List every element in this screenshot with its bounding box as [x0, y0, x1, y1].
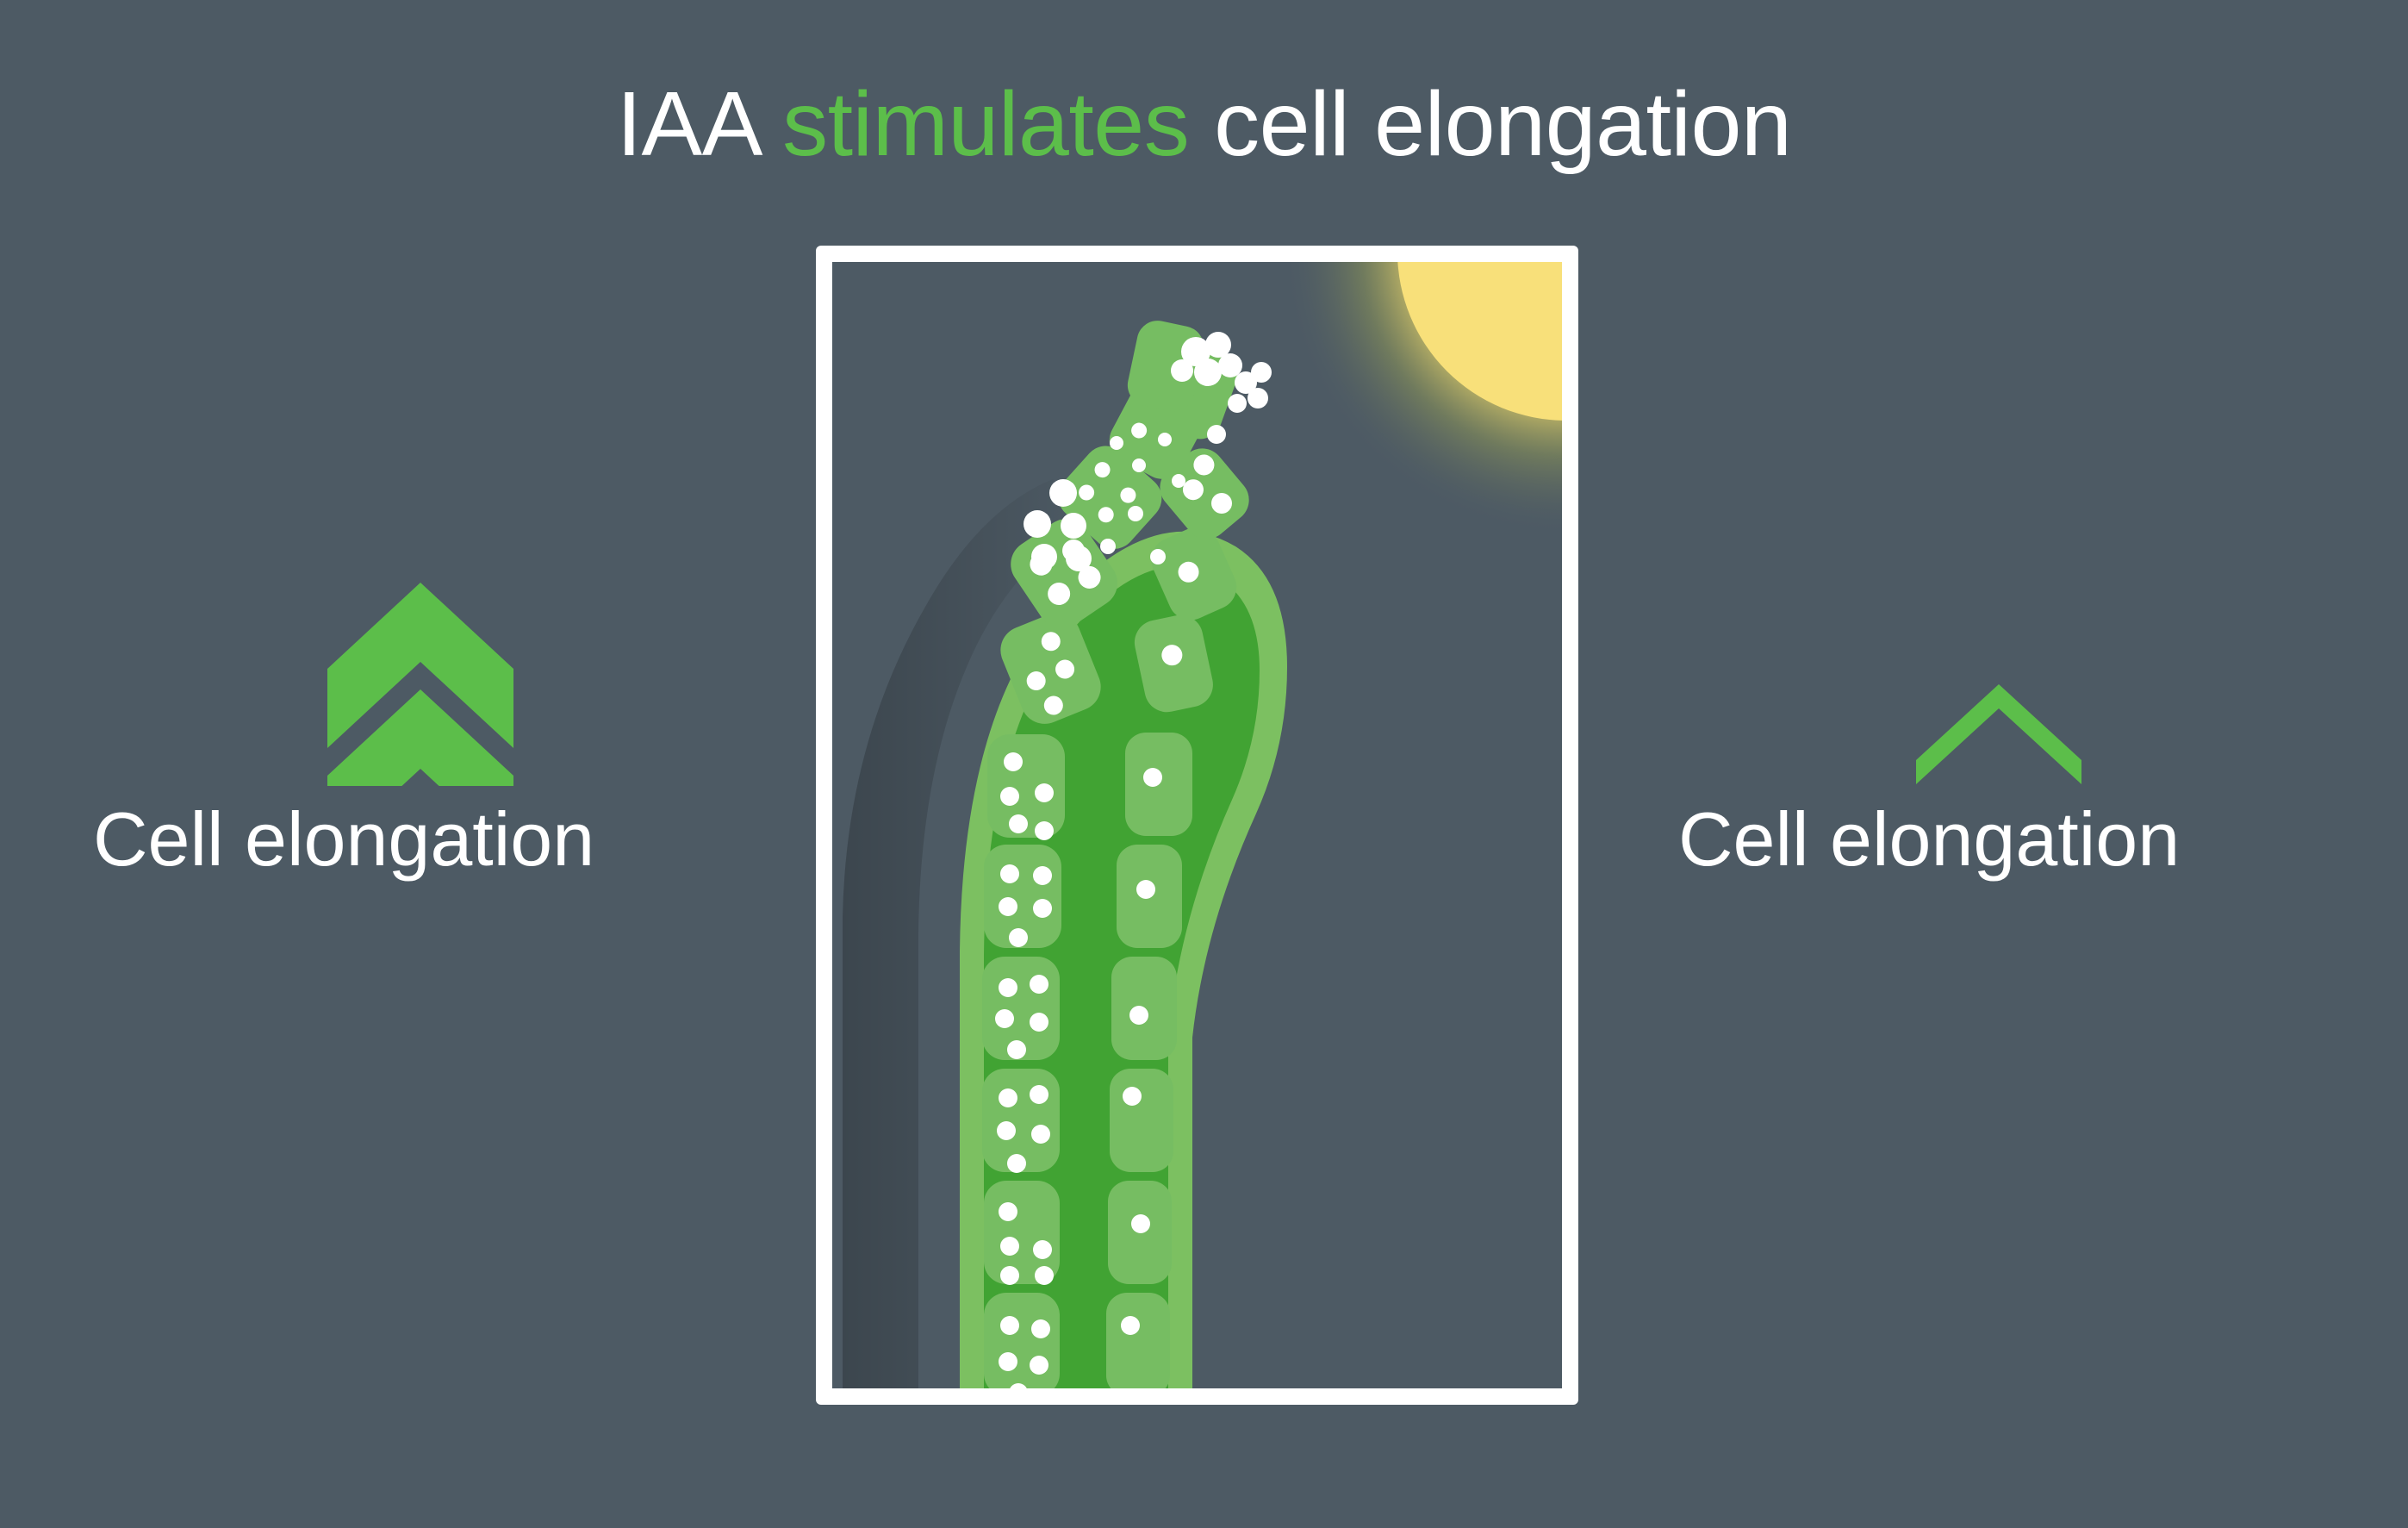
cell: [987, 734, 1065, 840]
cell: [984, 1293, 1060, 1388]
cell: [982, 1069, 1060, 1173]
double-chevron-up-icon: [326, 579, 515, 786]
cell: [984, 1181, 1060, 1285]
coleoptile-scene: [832, 262, 1562, 1388]
title-part-2: cell elongation: [1189, 73, 1791, 175]
cell: [1117, 845, 1182, 948]
cell: [982, 957, 1060, 1060]
cell: [984, 845, 1061, 948]
cell: [1110, 1069, 1173, 1172]
cell: [1108, 1181, 1172, 1284]
title-accent-word: stimulates: [782, 73, 1189, 175]
diagram-viewport: [832, 262, 1562, 1388]
page-title: IAA stimulates cell elongation: [0, 74, 2408, 175]
cell-elongation-label-left: Cell elongation: [93, 801, 594, 877]
cell: [1125, 733, 1192, 836]
cell: [1106, 1293, 1170, 1388]
illustration-canvas: IAA stimulates cell elongation Cell elon…: [0, 0, 2408, 1528]
cell-elongation-label-right: Cell elongation: [1678, 801, 2180, 877]
diagram-frame: [816, 246, 1578, 1405]
cell: [1111, 957, 1177, 1060]
chevron-up-icon: [1914, 681, 2083, 788]
title-part-1: IAA: [617, 73, 782, 175]
